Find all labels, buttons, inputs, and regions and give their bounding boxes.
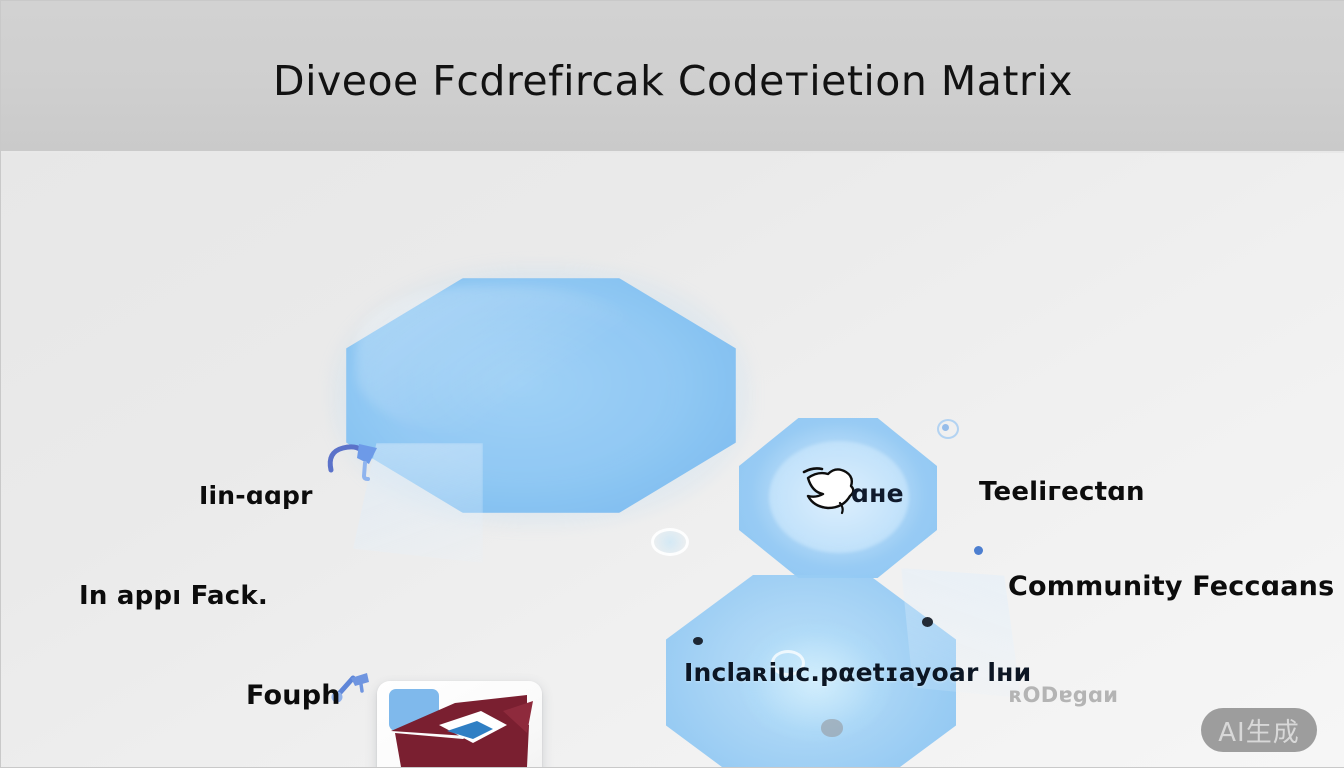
label-telemetry: Teeliгectɑn [979, 477, 1145, 507]
lower-node-dot-a [693, 637, 703, 645]
label-in-app-feedback: In appı Fack. [79, 581, 268, 611]
right-accent-dot [974, 546, 983, 555]
main-node-ring-icon [651, 528, 689, 556]
diagram-canvas: ɑнe [1, 153, 1344, 767]
envelope-glyph [377, 681, 542, 767]
ai-watermark-badge: AI生成 [1201, 708, 1317, 752]
envelope-card-icon[interactable] [377, 681, 542, 767]
label-in-app: Iin-ɑɑpr [199, 481, 313, 510]
lower-node-dot-b [922, 617, 933, 627]
label-center-node: Inclaʀiuc.pαetɪayoar lʜи [684, 658, 1031, 687]
lower-node-dot-c [821, 719, 843, 737]
main-node-sheen [356, 286, 656, 436]
pin-hook-icon [323, 436, 385, 484]
header-band: Diveoe Fcdrefircak Codeтietion Matrix [1, 1, 1344, 153]
label-community: Community Feccɑans [1008, 571, 1334, 602]
slide-canvas: Diveoe Fcdrefircak Codeтietion Matrix ɑн… [0, 0, 1344, 768]
bird-node-label: ɑнe [851, 479, 904, 508]
page-title: Diveoe Fcdrefircak Codeтietion Matrix [1, 57, 1344, 105]
connector-dot [942, 424, 949, 431]
label-fouph: Fouph [246, 680, 341, 711]
